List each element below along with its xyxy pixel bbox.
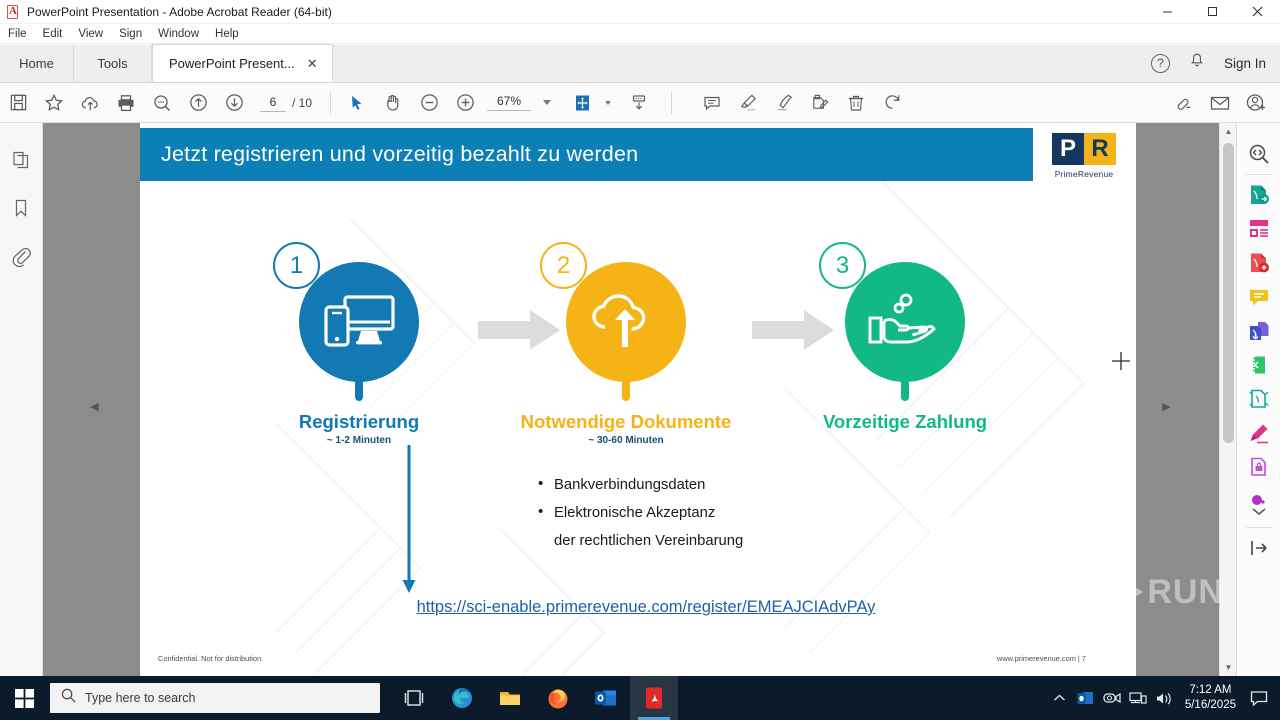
list-item: Elektronische Akzeptanz der rechtlichen … — [538, 499, 868, 555]
acrobat-reader-icon[interactable] — [630, 676, 678, 720]
step-3-label: Vorzeitige Zahlung — [785, 411, 1025, 433]
zoom-out-icon[interactable] — [411, 85, 447, 121]
select-cursor-icon[interactable] — [339, 85, 375, 121]
windows-start-icon[interactable] — [0, 676, 48, 720]
taskbar-clock[interactable]: 7:12 AM 5/16/2025 — [1177, 683, 1244, 713]
scroll-up-icon[interactable]: ▲ — [1220, 123, 1237, 140]
close-button[interactable] — [1235, 0, 1280, 24]
step-1-number: 1 — [290, 252, 303, 280]
email-icon[interactable] — [1202, 85, 1238, 121]
help-icon[interactable]: ? — [1151, 54, 1170, 73]
step-2-bubble: 2 — [566, 262, 686, 382]
step-3-number-badge: 3 — [819, 242, 866, 289]
list-item: Bankverbindungsdaten — [538, 471, 868, 499]
stamp-icon[interactable] — [802, 85, 838, 121]
step-2: 2 — [566, 262, 686, 382]
microsoft-edge-icon[interactable] — [438, 676, 486, 720]
window-title-bar: A PowerPoint Presentation - Adobe Acroba… — [0, 0, 1280, 24]
upload-to-cloud-icon[interactable] — [72, 85, 108, 121]
right-tools-rail — [1236, 123, 1280, 676]
draw-icon[interactable] — [766, 85, 802, 121]
combine-files-icon[interactable] — [1244, 314, 1274, 348]
show-hidden-icons-icon[interactable] — [1047, 676, 1073, 720]
cloud-upload-icon — [587, 291, 665, 353]
tab-strip-right: ? Sign In — [1151, 44, 1280, 82]
bell-icon[interactable] — [1188, 52, 1206, 75]
step-1-subtext: ~ 1-2 Minuten — [239, 435, 479, 446]
window-title: PowerPoint Presentation - Adobe Acrobat … — [27, 5, 332, 19]
close-icon[interactable]: ✕ — [307, 57, 318, 70]
attachments-icon[interactable] — [8, 243, 34, 269]
tab-strip: Home Tools PowerPoint Present... ✕ ? Sig… — [0, 45, 1280, 83]
tab-home[interactable]: Home — [0, 45, 74, 82]
step-3: 3 — [845, 262, 965, 382]
watermark-right-text: RUN — [1147, 573, 1224, 612]
compress-pdf-icon[interactable] — [1244, 348, 1274, 382]
mouse-cursor-crosshair — [1112, 352, 1130, 370]
file-explorer-icon[interactable] — [486, 676, 534, 720]
task-view-icon[interactable] — [390, 676, 438, 720]
menu-window[interactable]: Window — [150, 26, 207, 42]
next-page-icon[interactable] — [216, 85, 252, 121]
taskbar-search-box[interactable]: Type here to search — [50, 683, 380, 713]
tab-document-label: PowerPoint Present... — [169, 56, 295, 71]
play-triangle-icon — [1117, 576, 1143, 608]
tab-tools[interactable]: Tools — [74, 45, 152, 82]
desktop-and-mobile-icon — [319, 291, 399, 353]
maximize-button[interactable] — [1190, 0, 1235, 24]
menu-edit[interactable]: Edit — [35, 26, 71, 42]
step-1-bubble: 1 — [299, 262, 419, 382]
star-icon[interactable] — [36, 85, 72, 121]
footer-confidential-note: Confidential. Not for distribution. — [158, 654, 263, 663]
main-toolbar: 6 / 10 67% — [0, 83, 1280, 123]
step-3-number: 3 — [836, 252, 849, 280]
scrollbar-thumb[interactable] — [1223, 143, 1234, 443]
organize-pages-icon[interactable] — [1244, 212, 1274, 246]
search-icon — [61, 688, 76, 708]
step-2-label: Notwendige Dokumente — [506, 411, 746, 433]
zoom-in-icon[interactable] — [447, 85, 483, 121]
logo-name: PrimeRevenue — [1045, 169, 1123, 179]
search-icon[interactable] — [144, 85, 180, 121]
bookmarks-icon[interactable] — [8, 195, 34, 221]
search-document-icon[interactable] — [1244, 137, 1274, 171]
scroll-down-icon[interactable]: ▼ — [1220, 659, 1237, 676]
previous-page-arrow[interactable]: ◀ — [88, 393, 101, 419]
action-center-icon[interactable] — [1244, 676, 1274, 720]
step-1-number-badge: 1 — [273, 242, 320, 289]
watermark-left-text: ANY — [1039, 573, 1114, 612]
system-tray: 7:12 AM 5/16/2025 — [1047, 676, 1280, 720]
highlight-icon[interactable] — [730, 85, 766, 121]
rail-divider — [1246, 174, 1272, 175]
redact-icon[interactable] — [1244, 382, 1274, 416]
network-icon[interactable] — [1125, 676, 1151, 720]
camera-tray-icon[interactable] — [1099, 676, 1125, 720]
minimize-button[interactable] — [1145, 0, 1190, 24]
bullet-1-text: Bankverbindungsdaten — [554, 477, 705, 493]
menu-bar: File Edit View Sign Window Help — [0, 24, 1280, 44]
menu-help[interactable]: Help — [207, 26, 247, 42]
export-pdf-icon[interactable] — [1244, 178, 1274, 212]
collapse-panel-icon[interactable] — [1244, 531, 1274, 565]
print-icon[interactable] — [108, 85, 144, 121]
step-2-subtext: ~ 30-60 Minuten — [506, 435, 746, 446]
save-icon[interactable] — [0, 85, 36, 121]
arrow-1-icon — [478, 308, 562, 352]
primerevenue-logo: P R PrimeRevenue — [1045, 133, 1123, 195]
next-page-arrow[interactable]: ▶ — [1160, 393, 1173, 419]
rail-divider — [1246, 527, 1272, 528]
slide-page: Jetzt registrieren und vorzeitig bezahlt… — [140, 123, 1136, 676]
volume-icon[interactable] — [1151, 676, 1177, 720]
bullet-2-continuation: der rechtlichen Vereinbarung — [554, 527, 868, 555]
trash-icon[interactable] — [838, 85, 874, 121]
acrobat-icon: A — [5, 4, 21, 20]
left-navigation-rail — [0, 123, 43, 676]
menu-file[interactable]: File — [0, 26, 35, 42]
clock-time: 7:12 AM — [1185, 683, 1236, 698]
taskbar-app-buttons — [390, 676, 678, 720]
clock-date: 5/16/2025 — [1185, 698, 1236, 713]
step-1: 1 — [299, 262, 419, 382]
slide-title-banner: Jetzt registrieren und vorzeitig bezahlt… — [140, 128, 1033, 181]
step-3-bubble: 3 — [845, 262, 965, 382]
down-arrow-icon — [398, 445, 420, 598]
window-controls — [1145, 0, 1280, 24]
anyrun-watermark: ANY RUN — [1024, 560, 1224, 624]
step-2-number-badge: 2 — [540, 242, 587, 289]
acrobat-reader-window: A PowerPoint Presentation - Adobe Acroba… — [0, 0, 1280, 720]
page-thumbnails-icon[interactable] — [8, 147, 34, 173]
registration-url-link[interactable]: https://sci-enable.primerevenue.com/regi… — [326, 598, 966, 617]
sign-in-button[interactable]: Sign In — [1224, 56, 1266, 71]
zoom-control[interactable]: 67% — [487, 94, 551, 111]
toolbar-divider — [330, 92, 331, 114]
footer-website-note: www.primerevenue.com | 7 — [997, 654, 1086, 663]
create-pdf-icon[interactable] — [1244, 246, 1274, 280]
comment-tool-icon[interactable] — [1244, 280, 1274, 314]
outlook-icon[interactable] — [582, 676, 630, 720]
step-1-label: Registrierung — [239, 411, 479, 433]
chevron-down-icon[interactable] — [543, 100, 551, 105]
firefox-icon[interactable] — [534, 676, 582, 720]
page-total-label: / 10 — [292, 96, 312, 110]
rotate-icon[interactable] — [874, 85, 910, 121]
windows-taskbar: Type here to search — [0, 676, 1280, 720]
menu-view[interactable]: View — [70, 26, 111, 42]
search-placeholder: Type here to search — [85, 691, 195, 705]
requirements-list: Bankverbindungsdaten Elektronische Akzep… — [538, 471, 868, 555]
protect-icon[interactable] — [1244, 450, 1274, 484]
tab-document[interactable]: PowerPoint Present... ✕ — [152, 44, 333, 82]
hand-with-coins-icon — [864, 291, 946, 353]
bullet-2-text: Elektronische Akzeptanz — [554, 505, 715, 521]
comment-icon[interactable] — [694, 85, 730, 121]
logo-letter-r: R — [1084, 133, 1116, 165]
slide-title-text: Jetzt registrieren und vorzeitig bezahlt… — [161, 142, 638, 167]
menu-sign[interactable]: Sign — [111, 26, 150, 42]
fit-page-icon[interactable] — [565, 85, 601, 121]
more-tools-icon[interactable] — [1244, 484, 1274, 524]
logo-letter-p: P — [1052, 133, 1084, 165]
toolbar-divider — [671, 92, 672, 114]
arrow-2-icon — [752, 308, 836, 352]
outlook-tray-icon[interactable] — [1073, 676, 1099, 720]
hand-tool-icon[interactable] — [375, 85, 411, 121]
zoom-value[interactable]: 67% — [487, 94, 531, 111]
share-link-icon[interactable] — [1166, 85, 1202, 121]
page-navigation: 6 / 10 — [260, 93, 312, 112]
add-person-icon[interactable] — [1238, 85, 1274, 121]
page-number-input[interactable]: 6 — [260, 93, 286, 112]
scroll-mode-icon[interactable] — [621, 85, 657, 121]
document-viewport[interactable]: ◀ Jetzt registrieren und — [43, 123, 1236, 676]
chevron-down-icon[interactable] — [605, 101, 611, 105]
previous-page-icon[interactable] — [180, 85, 216, 121]
fill-and-sign-icon[interactable] — [1244, 416, 1274, 450]
step-2-number: 2 — [557, 252, 570, 280]
